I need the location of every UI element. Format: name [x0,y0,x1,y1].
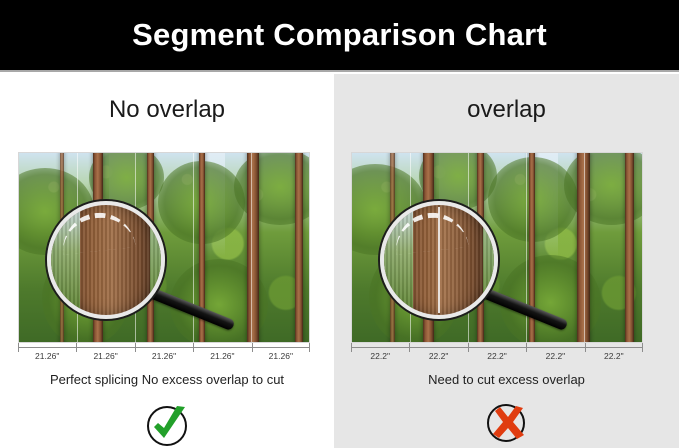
segment-divider [526,153,527,342]
panel-heading-overlap: overlap [334,96,679,124]
panel-heading-no-overlap: No overlap [0,96,334,124]
segment-width-label: 22.2" [468,351,526,361]
segment-width-label: 22.2" [409,351,467,361]
segment-divider [135,153,136,342]
figure-no-overlap: 70" 21.26" 21.26" 21.26" 21.26" 21.26" [18,152,310,369]
segment-width-label: 21.26" [193,351,251,361]
segment-divider [77,153,78,342]
segment-width-label: 21.26" [18,351,76,361]
page-title: Segment Comparison Chart [132,17,547,53]
verdict-overlap [334,400,679,444]
title-banner: Segment Comparison Chart [0,0,679,72]
segment-width-label: 22.2" [351,351,409,361]
forest-photo-no-overlap: 70" [18,152,310,343]
segment-width-label: 21.26" [252,351,310,361]
caption-overlap: Need to cut excess overlap [334,372,679,387]
segment-divider [468,153,469,342]
segment-divider [584,153,585,342]
segment-width-label: 22.2" [526,351,584,361]
segment-comparison-chart-page: Segment Comparison Chart No overlap [0,0,679,448]
figure-overlap: 70" 22.2" 22.2" 22.2" 22.2" 22.2" [351,152,643,369]
segment-divider [251,153,252,342]
panel-overlap: overlap [334,74,679,448]
caption-no-overlap: Perfect splicing No excess overlap to cu… [0,372,334,387]
panel-no-overlap: No overlap [0,74,334,448]
cross-mark-icon [483,400,531,444]
segment-width-label: 22.2" [585,351,643,361]
check-mark-icon [143,400,191,448]
width-dimension-no-overlap: 21.26" 21.26" 21.26" 21.26" 21.26" [18,347,310,369]
width-dimension-overlap: 22.2" 22.2" 22.2" 22.2" 22.2" [351,347,643,369]
segment-width-label: 21.26" [76,351,134,361]
forest-photo-overlap: 70" [351,152,643,343]
verdict-no-overlap [0,400,334,448]
segment-divider [193,153,194,342]
segment-divider [410,153,411,342]
segment-width-label: 21.26" [135,351,193,361]
